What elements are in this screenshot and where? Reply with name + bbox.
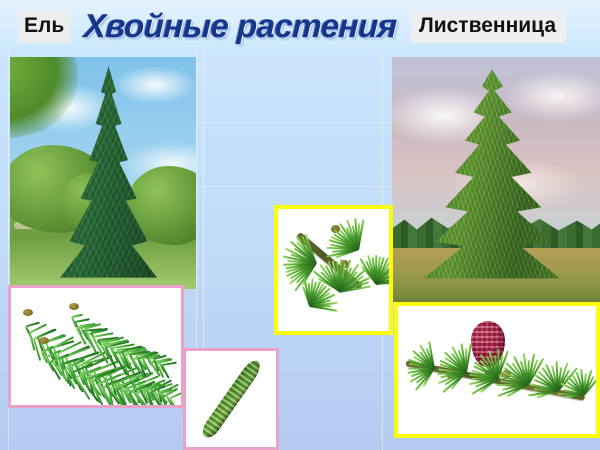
branch-bud (23, 309, 33, 316)
needle-rosette (464, 372, 465, 373)
larch-needles-inset (274, 205, 393, 335)
needle-rosette (556, 390, 557, 391)
larch-tree-photo (392, 57, 600, 302)
page-title: Хвойные растения (84, 7, 398, 45)
label-larch: Лиственница (411, 10, 566, 43)
larch-cone-inset (394, 302, 600, 438)
label-spruce: Ель (18, 10, 70, 43)
green-cone (199, 357, 264, 441)
needle-rosette (374, 283, 375, 284)
larch-needles-artwork (278, 209, 389, 331)
needle (162, 362, 177, 366)
spruce-branch-artwork (11, 288, 181, 405)
needle-rosette (338, 291, 339, 292)
slide-header: Ель Хвойные растения Лиственница (0, 0, 600, 52)
spruce-cone-artwork (186, 351, 276, 447)
spruce-cone-inset (183, 348, 279, 450)
needle-rosette (582, 394, 583, 395)
branch-bud (69, 303, 79, 310)
branch-bud (39, 337, 49, 344)
larch-cone-artwork (398, 306, 596, 434)
needle-rosette (526, 384, 527, 385)
needle-rosette (356, 249, 357, 250)
slide-canvas: Ель Хвойные растения Лиственница (0, 0, 600, 450)
needle-rosette (308, 305, 309, 306)
spruce-tree-photo (10, 57, 196, 289)
needle-rosette (496, 378, 497, 379)
needle-rosette (432, 368, 433, 369)
spruce-branch-inset (8, 285, 184, 408)
needle-rosette (314, 263, 315, 264)
